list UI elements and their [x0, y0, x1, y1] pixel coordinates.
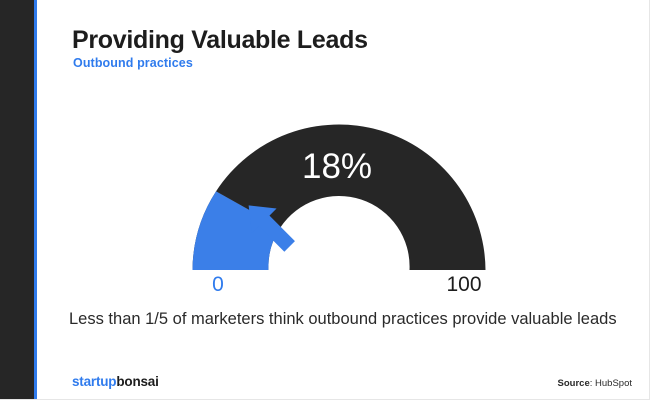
- brand-logo: startupbonsai: [72, 374, 159, 389]
- slide-canvas: Providing Valuable Leads Outbound practi…: [0, 0, 650, 400]
- brand-logo-primary: startup: [72, 374, 116, 389]
- page-title: Providing Valuable Leads: [72, 26, 368, 55]
- chart-caption: Less than 1/5 of marketers think outboun…: [69, 310, 617, 329]
- gauge-tick-min: 0: [196, 273, 240, 297]
- left-accent-line: [34, 0, 37, 400]
- page-subtitle: Outbound practices: [73, 56, 193, 70]
- left-dark-rail: [0, 0, 34, 400]
- source-value: : HubSpot: [590, 378, 632, 389]
- gauge-tick-max: 100: [434, 273, 494, 297]
- source-attribution: Source: HubSpot: [558, 378, 632, 389]
- gauge-value-label: 18%: [302, 147, 372, 187]
- source-label: Source: [558, 378, 590, 389]
- brand-logo-secondary: bonsai: [116, 374, 158, 389]
